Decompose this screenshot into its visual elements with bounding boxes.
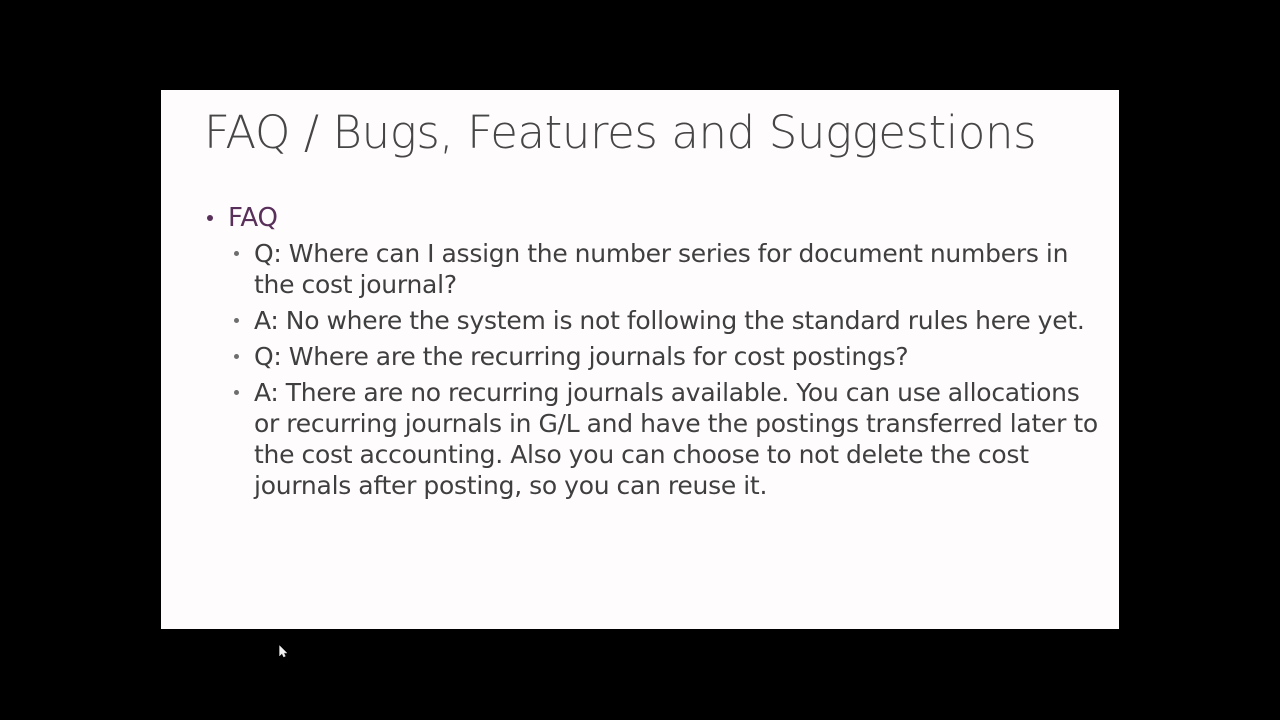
list-item: A: No where the system is not following … (228, 305, 1091, 336)
list-item-text: Q: Where are the recurring journals for … (254, 341, 1099, 372)
mouse-pointer-icon (279, 645, 288, 658)
list-item-text: A: There are no recurring journals avail… (254, 377, 1099, 501)
list-item-label: FAQ (228, 203, 278, 233)
disc-bullet-icon (234, 390, 239, 395)
disc-bullet-icon (234, 251, 239, 256)
list-item: Q: Where are the recurring journals for … (228, 341, 1091, 372)
list-item-text: A: No where the system is not following … (254, 305, 1099, 336)
list-item-faq: FAQ Q: Where can I assign the number ser… (201, 203, 1091, 501)
bullet-list-level1: FAQ Q: Where can I assign the number ser… (201, 203, 1091, 501)
disc-bullet-icon (234, 354, 239, 359)
slide-body: FAQ Q: Where can I assign the number ser… (201, 203, 1091, 506)
page-title: FAQ / Bugs, Features and Suggestions (204, 105, 1084, 161)
slide-canvas: FAQ / Bugs, Features and Suggestions FAQ… (161, 90, 1119, 629)
list-item-text: Q: Where can I assign the number series … (254, 238, 1099, 300)
list-item: A: There are no recurring journals avail… (228, 377, 1091, 501)
disc-bullet-icon (234, 318, 239, 323)
list-item: Q: Where can I assign the number series … (228, 238, 1091, 300)
presentation-viewport: FAQ / Bugs, Features and Suggestions FAQ… (0, 0, 1280, 720)
bullet-list-level2: Q: Where can I assign the number series … (228, 238, 1091, 501)
disc-bullet-icon (207, 215, 213, 221)
